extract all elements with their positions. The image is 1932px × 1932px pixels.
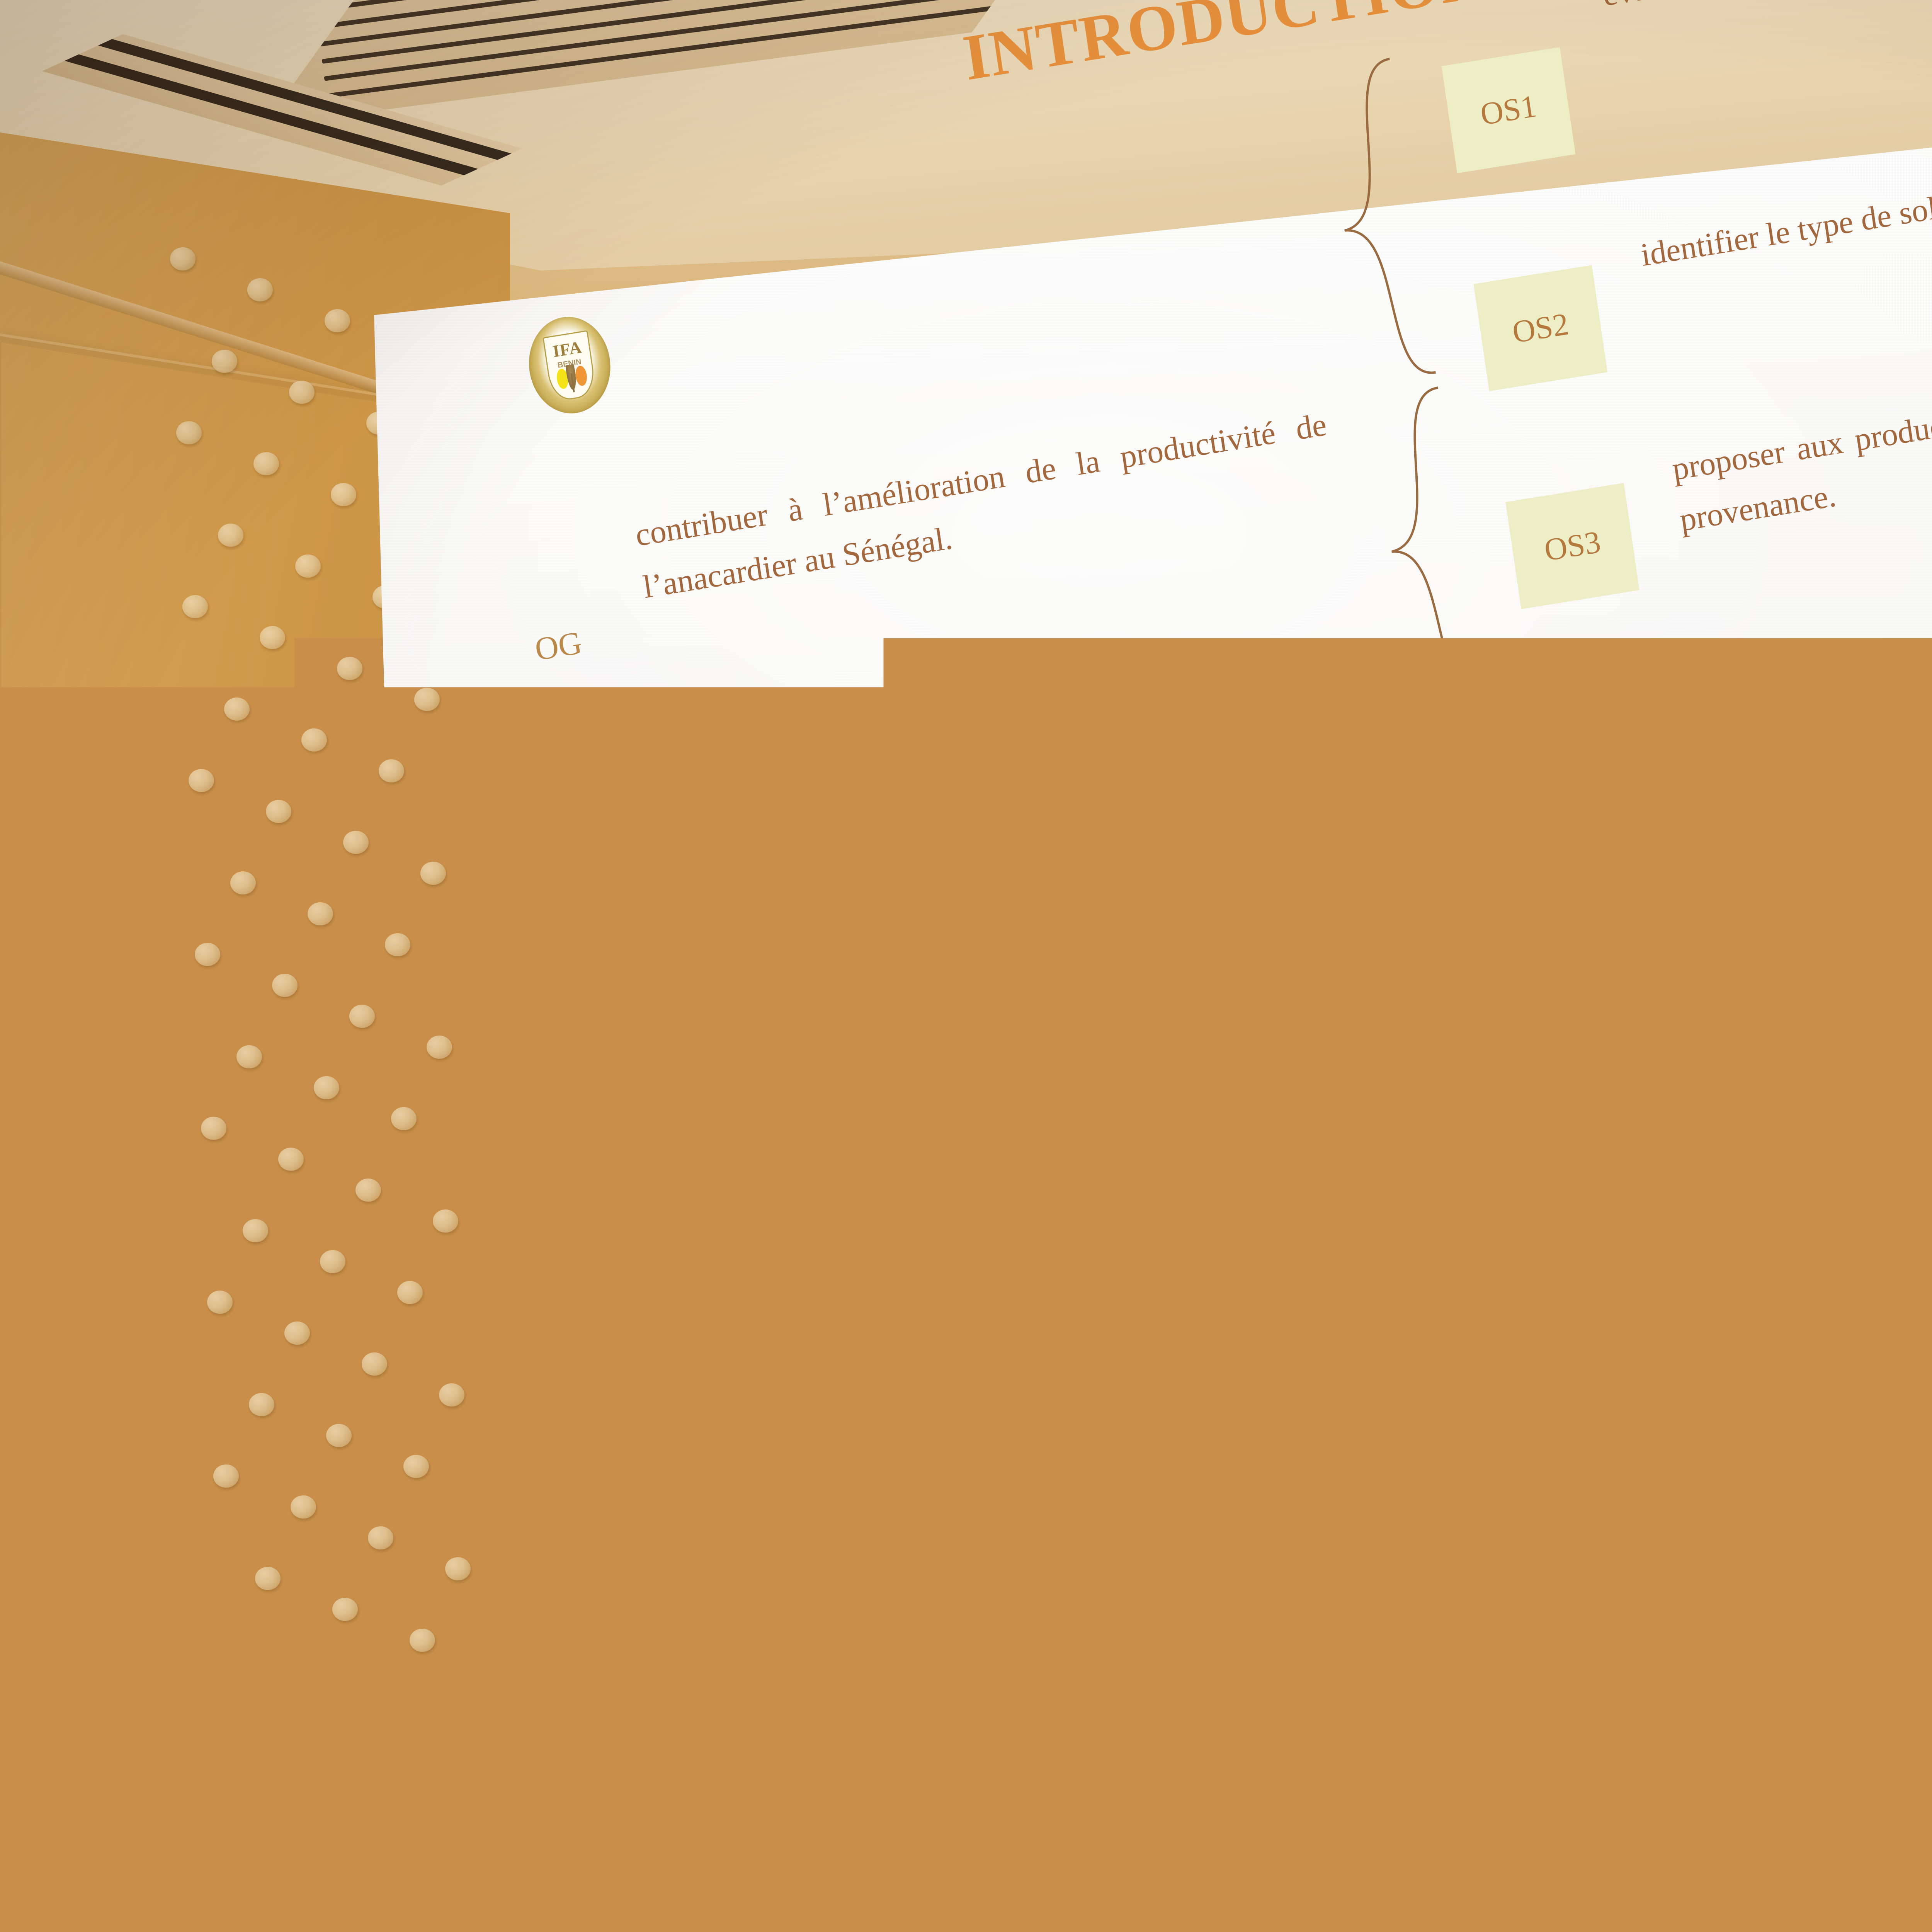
curtain-fold (1289, 1451, 1315, 1651)
curtain-fold (1670, 1408, 1695, 1607)
curtain-fold (1796, 1393, 1821, 1593)
curtain-fold (1543, 1422, 1568, 1622)
os3-box: OS3 (1505, 483, 1639, 609)
og-text: contribuer à l’amélioration de la produc… (632, 398, 1337, 614)
os1-box: OS1 (1442, 47, 1576, 173)
banner-fabric-fold (1800, 1677, 1811, 1932)
curtain-fold (1163, 1466, 1188, 1666)
os2-text: identifier le type de sol le mieux adapt… (1638, 46, 1932, 281)
projected-slide: IFA BENIN ACA INTRODUCTION OG (319, 0, 1932, 1643)
ifa-benin-logo-icon: IFA BENIN (522, 311, 617, 420)
h3-box: H3 (1288, 1265, 1400, 1392)
curtain-fold (656, 1525, 681, 1725)
photograph-stage: IFA BENIN ACA INTRODUCTION OG (0, 0, 1932, 1932)
os1-text: évaluer le comportement en milieu contrô… (1599, 0, 1932, 21)
os2-box: OS2 (1473, 265, 1607, 391)
curtain-fold (783, 1510, 808, 1710)
h1-box: H1 (1233, 895, 1345, 1021)
curtain-fold (1416, 1437, 1441, 1636)
banner-title: 18è Conférence & Exposition Annuelle du … (11, 1824, 1529, 1932)
curtain-fold (1036, 1481, 1061, 1680)
banner-fabric-fold (1433, 1685, 1444, 1932)
curtain-fold (910, 1495, 935, 1695)
hypotheses-intro: Les hypothèses qui sous-tendent notre ét… (590, 1030, 1207, 1229)
curtain-fold (1923, 1378, 1932, 1578)
h2-box: H2 (1260, 1078, 1372, 1204)
os3-text: proposer aux producteurs la meilleure co… (1669, 260, 1932, 546)
og-label: OG (532, 624, 584, 668)
